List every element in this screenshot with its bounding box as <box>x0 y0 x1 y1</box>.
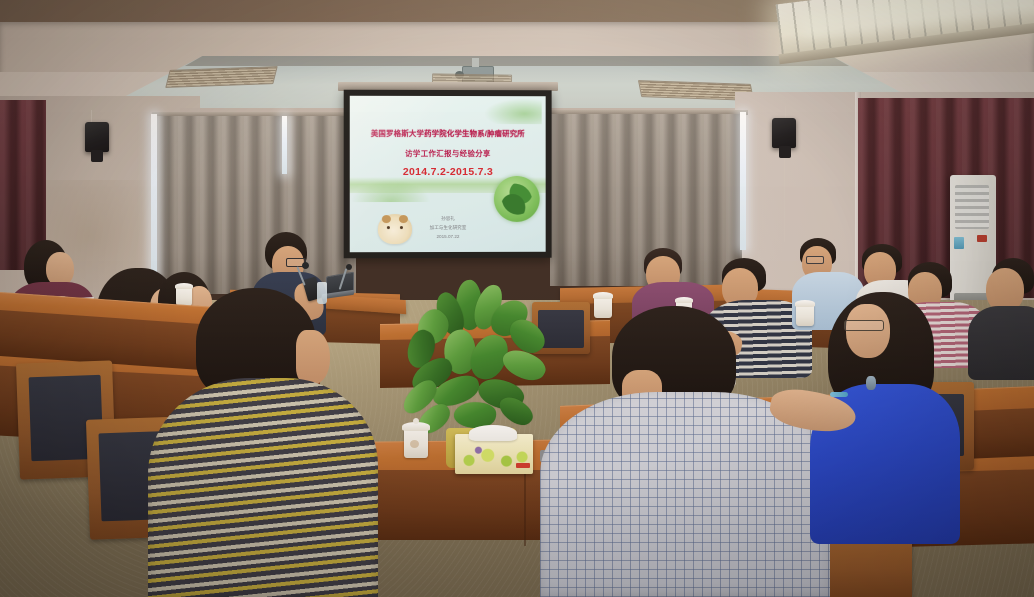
slide-grass-decoration <box>352 180 430 202</box>
slide-department: 加工与生化研究室 <box>350 223 546 232</box>
microphone-head-icon-2 <box>346 264 352 270</box>
ac-display-panel <box>954 237 964 249</box>
teacup-knob-center <box>413 418 419 424</box>
tissue-box-floral-art <box>455 440 533 474</box>
wall-speaker-right-mount <box>779 146 791 158</box>
ear-and-neck <box>296 330 330 384</box>
water-glass[interactable] <box>317 282 327 304</box>
microphone-head-icon <box>302 262 309 269</box>
necklace-pendant <box>866 376 876 390</box>
head <box>46 252 74 286</box>
ac-grill-icon <box>955 185 989 229</box>
slide-leaf-decoration-top <box>484 98 542 124</box>
window-light-right <box>740 112 746 250</box>
window-light-left-inner <box>282 116 287 174</box>
tissue-sheet[interactable] <box>469 425 517 441</box>
torso <box>968 306 1034 380</box>
teacup-lid-3 <box>175 283 193 289</box>
glasses-icon <box>806 256 824 264</box>
teacup-lid-r1 <box>593 292 613 299</box>
bracelet <box>830 392 848 397</box>
slide-title-line1: 美国罗格斯大学药学院化学生物系/肿瘤研究所 <box>350 128 546 139</box>
projector-mount <box>472 58 479 67</box>
slide-date-range: 2014.7.2-2015.7.3 <box>350 166 546 178</box>
ac-indicator-icon <box>977 235 987 242</box>
slide-presenter-block: 孙思礼 加工与生化研究室 2015.07.22 <box>350 214 546 241</box>
head <box>846 304 890 358</box>
wall-speaker-right-icon <box>772 118 796 148</box>
curtain-left <box>156 116 356 294</box>
tissue-box-logo <box>516 463 530 468</box>
projection-screen: 美国罗格斯大学药学院化学生物系/肿瘤研究所 访学工作汇报与经验分享 2014.7… <box>344 90 552 259</box>
teacup-right-2[interactable] <box>796 304 814 326</box>
speaker-cable-right-run <box>784 158 785 242</box>
wall-speaker-left-mount <box>91 150 103 162</box>
torso <box>148 378 378 597</box>
meeting-room-photo: 美国罗格斯大学药学院化学生物系/肿瘤研究所 访学工作汇报与经验分享 2014.7… <box>0 0 1034 597</box>
slide-date: 2015.07.22 <box>350 232 546 241</box>
teacup-lid-r4 <box>675 297 693 303</box>
teacup-right-1[interactable] <box>594 296 612 318</box>
slide-presenter-name: 孙思礼 <box>350 214 546 223</box>
wall-speaker-left-icon <box>85 122 109 152</box>
teacup-lid-r2 <box>795 300 815 307</box>
projection-screen-surface: 美国罗格斯大学药学院化学生物系/肿瘤研究所 访学工作汇报与经验分享 2014.7… <box>350 96 546 252</box>
slide-title-line2: 访学工作汇报与经验分享 <box>350 148 546 159</box>
teacup-pattern-center <box>410 440 419 448</box>
glasses-icon <box>844 320 884 331</box>
window-light-left <box>151 114 157 280</box>
